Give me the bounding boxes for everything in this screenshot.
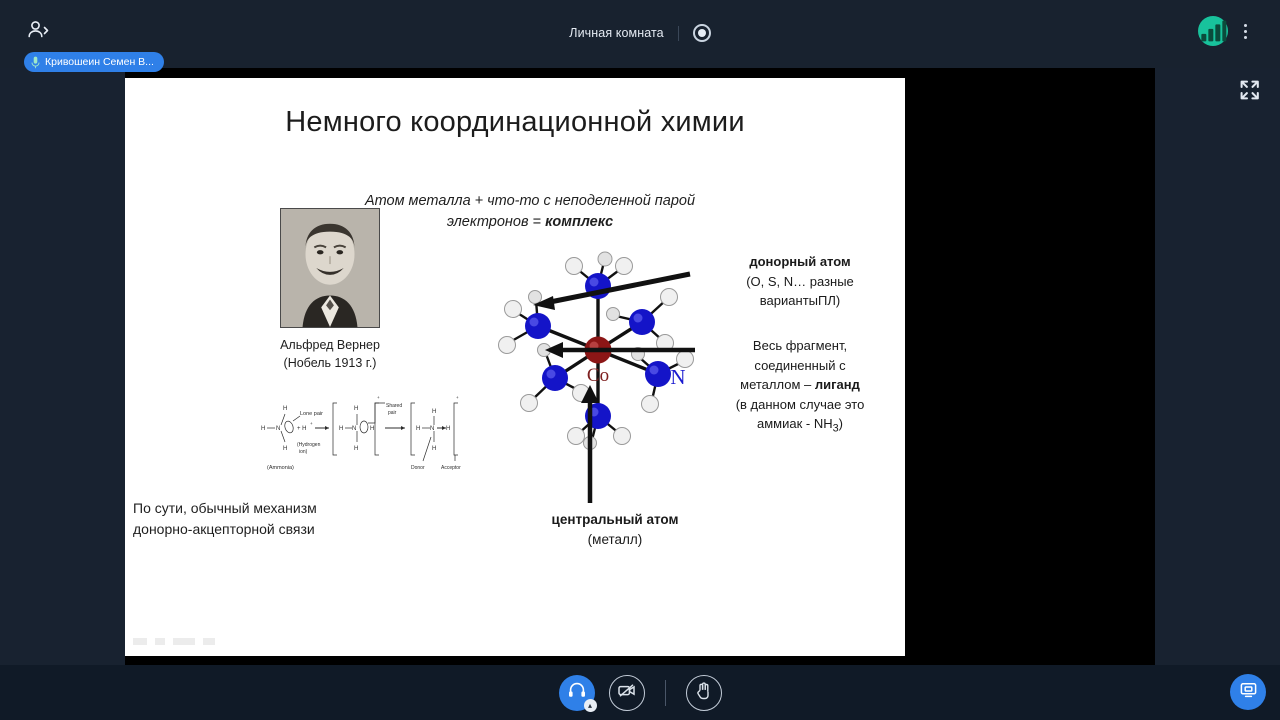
svg-text:Lone pair: Lone pair — [300, 411, 323, 417]
svg-text:Donor: Donor — [411, 465, 425, 471]
annotation-donor-line-2: вариантыПЛ) — [760, 293, 840, 308]
cobalt-center-atom — [585, 337, 612, 364]
svg-text:+: + — [310, 421, 313, 426]
annotation-donor-heading: донорный атом — [749, 254, 850, 269]
audio-options-chevron[interactable]: ▴ — [584, 699, 597, 712]
audio-toggle-button[interactable]: ▴ — [559, 675, 595, 711]
annotation-ligand-line-1: Весь фрагмент, — [753, 338, 847, 353]
central-atom-heading: центральный атом — [552, 512, 679, 527]
camera-toggle-button[interactable] — [609, 675, 645, 711]
svg-text:H: H — [339, 426, 343, 432]
svg-text:Shared: Shared — [386, 403, 402, 409]
presentation-slide: Немного координационной химии Атом метал… — [125, 78, 905, 656]
portrait-caption: Альфред Вернер (Нобель 1913 г.) — [240, 336, 420, 372]
svg-text:pair: pair — [388, 410, 397, 416]
room-title: Личная комната — [569, 26, 663, 40]
svg-text:H: H — [283, 406, 287, 412]
microphone-icon — [31, 56, 40, 69]
bottom-left-line-2: донорно-акцепторной связи — [133, 521, 315, 537]
svg-text:(Ammonia): (Ammonia) — [267, 465, 294, 471]
donor-acceptor-caption: По сути, обычный механизм донорно-акцепт… — [125, 498, 505, 540]
nitrogen-label: N — [670, 365, 685, 389]
donor-acceptor-mini-diagram: H N H H Lone pair (Ammonia) + H + — [253, 383, 468, 483]
slide-title: Немного координационной химии — [125, 106, 905, 139]
portrait-alfred-werner — [280, 208, 380, 328]
bottom-left-line-1: По сути, обычный механизм — [133, 500, 317, 516]
self-participant-name: Кривошеин Семен В... — [45, 56, 154, 68]
svg-text:H: H — [432, 446, 436, 452]
signal-bars-icon[interactable] — [1198, 16, 1228, 46]
meeting-app-window: Кривошеин Семен В... Личная комната — [0, 0, 1280, 720]
subtitle-line-2-bold: комплекс — [545, 214, 613, 230]
kebab-menu-icon[interactable] — [1236, 17, 1254, 45]
annotation-donor-atom: донорный атом (O, S, N… разные вариантыП… — [700, 252, 900, 311]
svg-text:ion): ion) — [299, 449, 308, 455]
svg-text:H: H — [446, 426, 450, 432]
screen-share-button[interactable] — [1230, 674, 1266, 710]
headset-icon — [567, 680, 587, 705]
svg-text:N: N — [352, 426, 356, 432]
svg-text:+ H: + H — [297, 426, 307, 432]
camera-off-icon — [616, 680, 637, 706]
cobalt-label: Co — [587, 365, 609, 386]
molecule-diagram-cobalt-hexammine: Co N — [480, 238, 720, 468]
top-bar: Кривошеин Семен В... Личная комната — [0, 0, 1280, 68]
fullscreen-expand-icon[interactable] — [1238, 78, 1262, 102]
central-atom-sub: (металл) — [588, 532, 643, 547]
annotation-central-atom: центральный атом (металл) — [515, 510, 715, 549]
svg-text:H: H — [283, 446, 287, 452]
control-group: ▴ — [0, 665, 1280, 720]
svg-text:H: H — [370, 426, 374, 432]
bottom-control-bar: ▴ — [0, 665, 1280, 720]
svg-text:H: H — [354, 446, 358, 452]
mini-atom-h: H — [261, 426, 265, 432]
annotation-donor-line-1: (O, S, N… разные — [746, 274, 854, 289]
annotation-ligand-line-4: (в данном случае это — [736, 397, 865, 412]
portrait-award: (Нобель 1913 г.) — [284, 356, 377, 370]
self-participant-badge[interactable]: Кривошеин Семен В... — [24, 52, 164, 72]
slide-bottom-artifacts — [133, 638, 215, 645]
svg-text:+: + — [377, 395, 380, 400]
svg-text:Acceptor: Acceptor — [441, 465, 461, 471]
svg-text:H: H — [416, 426, 420, 432]
room-title-group: Личная комната — [0, 24, 1280, 42]
subtitle-line-1: Атом металла + что-то с неподеленной пар… — [365, 193, 695, 209]
annotation-ligand-line-5-tail: ) — [839, 416, 843, 431]
annotation-ligand-line-3-bold: лиганд — [815, 377, 860, 392]
portrait-name: Альфред Вернер — [280, 338, 380, 352]
annotation-ligand-line-2: соединенный с — [754, 358, 845, 373]
annotation-ligand-line-3-plain: металлом – — [740, 377, 815, 392]
annotation-ligand-line-5-plain: аммиак - NH — [757, 416, 833, 431]
svg-text:(Hydrogen: (Hydrogen — [297, 442, 321, 448]
record-indicator-icon[interactable] — [693, 24, 711, 42]
svg-text:H: H — [432, 409, 436, 415]
video-stage: Немного координационной химии Атом метал… — [0, 68, 1280, 665]
svg-text:+: + — [456, 395, 459, 400]
annotation-ligand: Весь фрагмент, соединенный с металлом – … — [695, 336, 905, 437]
svg-text:H: H — [354, 406, 358, 412]
control-divider — [665, 680, 666, 706]
screen-share-icon — [1239, 680, 1258, 704]
header-divider — [678, 26, 679, 41]
raise-hand-icon — [694, 681, 713, 705]
svg-text:N: N — [276, 426, 280, 432]
subtitle-line-2-plain: электронов = — [447, 214, 545, 230]
raise-hand-button[interactable] — [686, 675, 722, 711]
